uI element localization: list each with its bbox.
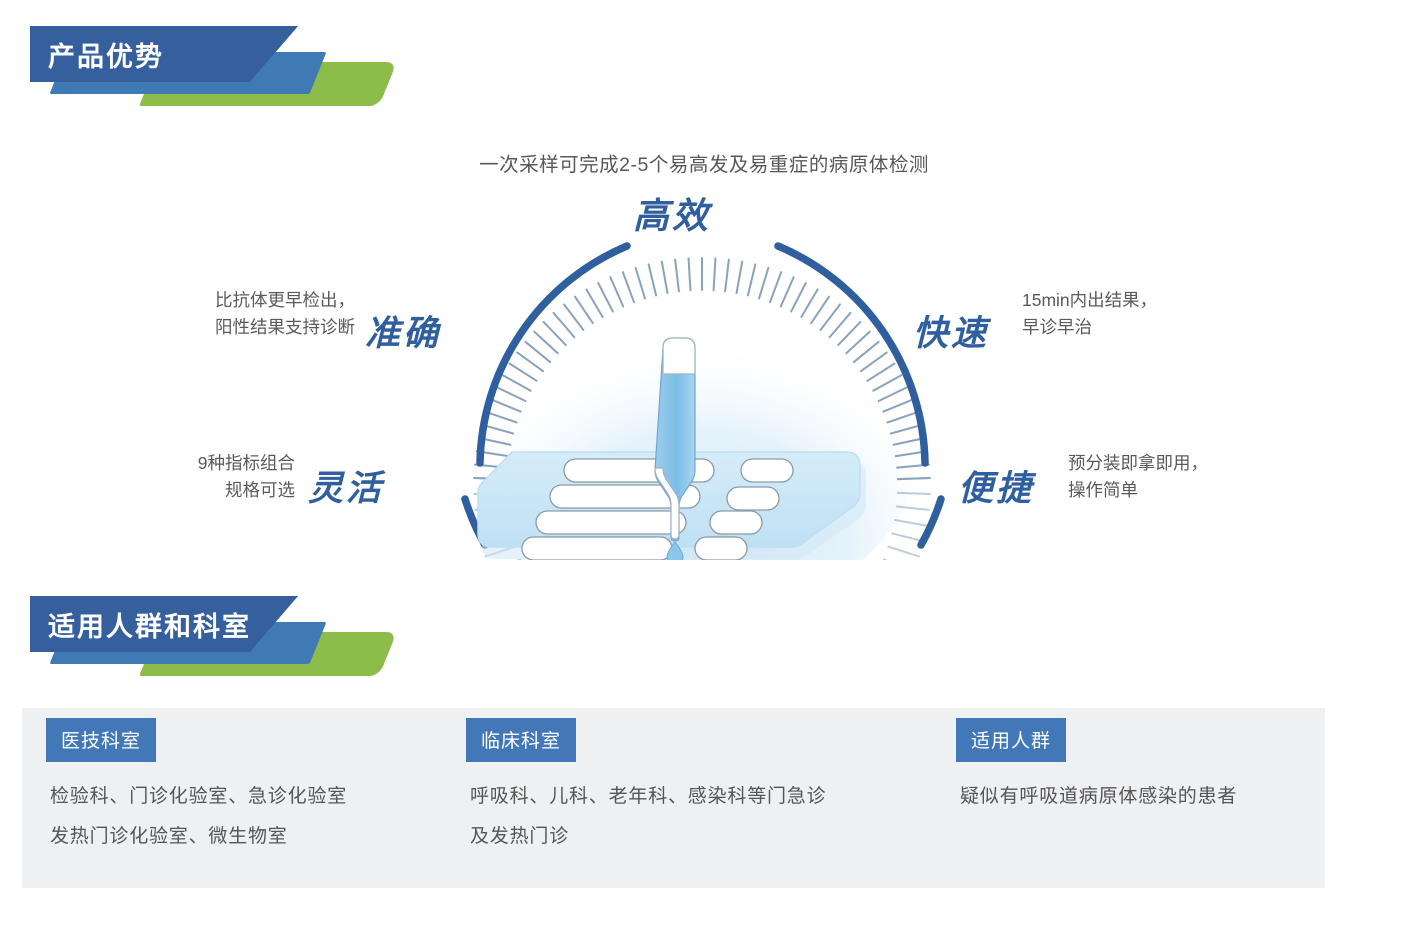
info-line: 呼吸科、儿科、老年科、感染科等门急诊: [470, 778, 826, 816]
section-title-audience: 适用人群和科室: [48, 605, 251, 644]
gauge-desc-left-upper: 比抗体更早检出， 阳性结果支持诊断: [0, 287, 355, 341]
gauge-desc-right-upper: 15min内出结果， 早诊早治: [1022, 287, 1157, 341]
gauge-desc-left-upper-line2: 阳性结果支持诊断: [0, 314, 355, 341]
gauge-desc-right-lower-line2: 操作简单: [1068, 477, 1208, 504]
section-banner-advantages: 产品优势: [0, 26, 400, 108]
info-line: 检验科、门诊化验室、急诊化验室: [50, 778, 347, 816]
gauge-desc-left-upper-line1: 比抗体更早检出，: [0, 287, 355, 314]
info-line: 发热门诊化验室、微生物室: [50, 818, 347, 856]
info-column-tag: 临床科室: [466, 718, 576, 762]
arc-segment-right-lower: [921, 499, 941, 545]
info-column-body: 检验科、门诊化验室、急诊化验室 发热门诊化验室、微生物室: [50, 778, 347, 858]
info-column-tag: 医技科室: [46, 718, 156, 762]
advantages-gauge-diagram: 一次采样可完成2-5个易高发及易重症的病原体检测: [0, 130, 1408, 560]
info-column-body: 疑似有呼吸道病原体感染的患者: [960, 778, 1237, 818]
audience-info-panel: 医技科室 检验科、门诊化验室、急诊化验室 发热门诊化验室、微生物室 临床科室 呼…: [22, 708, 1325, 888]
section-title-advantages: 产品优势: [48, 35, 164, 74]
section-banner-audience: 适用人群和科室: [0, 596, 400, 678]
info-column-medical-technical: 医技科室 检验科、门诊化验室、急诊化验室 发热门诊化验室、微生物室: [42, 708, 462, 888]
info-line: 及发热门诊: [470, 818, 826, 856]
info-line: 疑似有呼吸道病原体感染的患者: [960, 778, 1237, 816]
info-column-clinical: 临床科室 呼吸科、儿科、老年科、感染科等门急诊 及发热门诊: [462, 708, 952, 888]
gauge-label-right-lower: 便捷: [958, 460, 1034, 511]
gauge-desc-left-lower: 9种指标组合 规格可选: [0, 450, 295, 504]
info-column-target-population: 适用人群 疑似有呼吸道病原体感染的患者: [952, 708, 1325, 888]
gauge-label-right-upper: 快速: [913, 305, 989, 356]
gauge-label-left-upper: 准确: [365, 305, 441, 356]
gauge-label-top: 高效: [633, 187, 711, 239]
info-column-body: 呼吸科、儿科、老年科、感染科等门急诊 及发热门诊: [470, 778, 826, 858]
gauge-desc-right-lower-line1: 预分装即拿即用，: [1068, 450, 1208, 477]
gauge-desc-right-upper-line1: 15min内出结果，: [1022, 287, 1157, 314]
info-column-tag: 适用人群: [956, 718, 1066, 762]
gauge-desc-right-lower: 预分装即拿即用， 操作简单: [1068, 450, 1208, 504]
gauge-desc-right-upper-line2: 早诊早治: [1022, 314, 1157, 341]
gauge-label-left-lower: 灵活: [308, 460, 384, 511]
gauge-desc-left-lower-line1: 9种指标组合: [0, 450, 295, 477]
gauge-desc-left-lower-line2: 规格可选: [0, 477, 295, 504]
